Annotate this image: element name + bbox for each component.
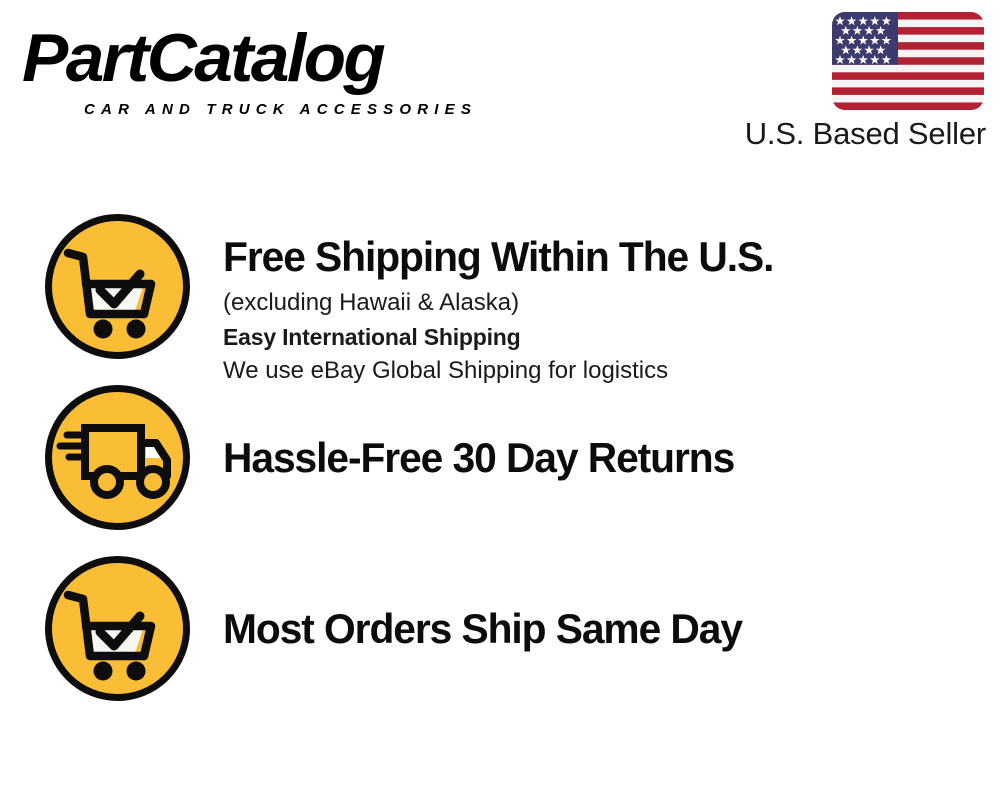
brand-logo: PartCatalog CAR AND TRUCK ACCESSORIES: [22, 22, 492, 114]
benefit-title: Most Orders Ship Same Day: [223, 604, 960, 654]
benefit-text-block: Most Orders Ship Same Day: [223, 554, 983, 703]
benefit-row-free-shipping: Free Shipping Within The U.S. (excluding…: [0, 212, 1000, 383]
delivery-truck-icon: [43, 383, 192, 532]
benefit-text-block: Hassle-Free 30 Day Returns: [223, 383, 983, 532]
shopping-cart-check-icon: [43, 554, 192, 703]
benefit-subtitle-international: Easy International Shipping: [223, 320, 983, 354]
benefit-row-returns: Hassle-Free 30 Day Returns: [0, 383, 1000, 554]
benefit-subtitle-exclusions: (excluding Hawaii & Alaska): [223, 286, 983, 320]
page-header: PartCatalog CAR AND TRUCK ACCESSORIES: [0, 0, 1000, 175]
shopping-cart-check-icon: [43, 212, 192, 361]
benefit-row-same-day-ship: Most Orders Ship Same Day: [0, 554, 1000, 725]
benefits-list: Free Shipping Within The U.S. (excluding…: [0, 212, 1000, 725]
benefit-text-block: Free Shipping Within The U.S. (excluding…: [223, 212, 983, 381]
benefit-title: Hassle-Free 30 Day Returns: [223, 433, 960, 483]
us-flag-icon: [832, 12, 984, 110]
brand-tagline: CAR AND TRUCK ACCESSORIES: [84, 101, 477, 118]
benefit-title: Free Shipping Within The U.S.: [223, 232, 960, 282]
brand-wordmark: PartCatalog: [22, 22, 383, 94]
us-based-seller-label: U.S. Based Seller: [738, 116, 986, 152]
us-seller-badge: U.S. Based Seller: [738, 12, 988, 152]
